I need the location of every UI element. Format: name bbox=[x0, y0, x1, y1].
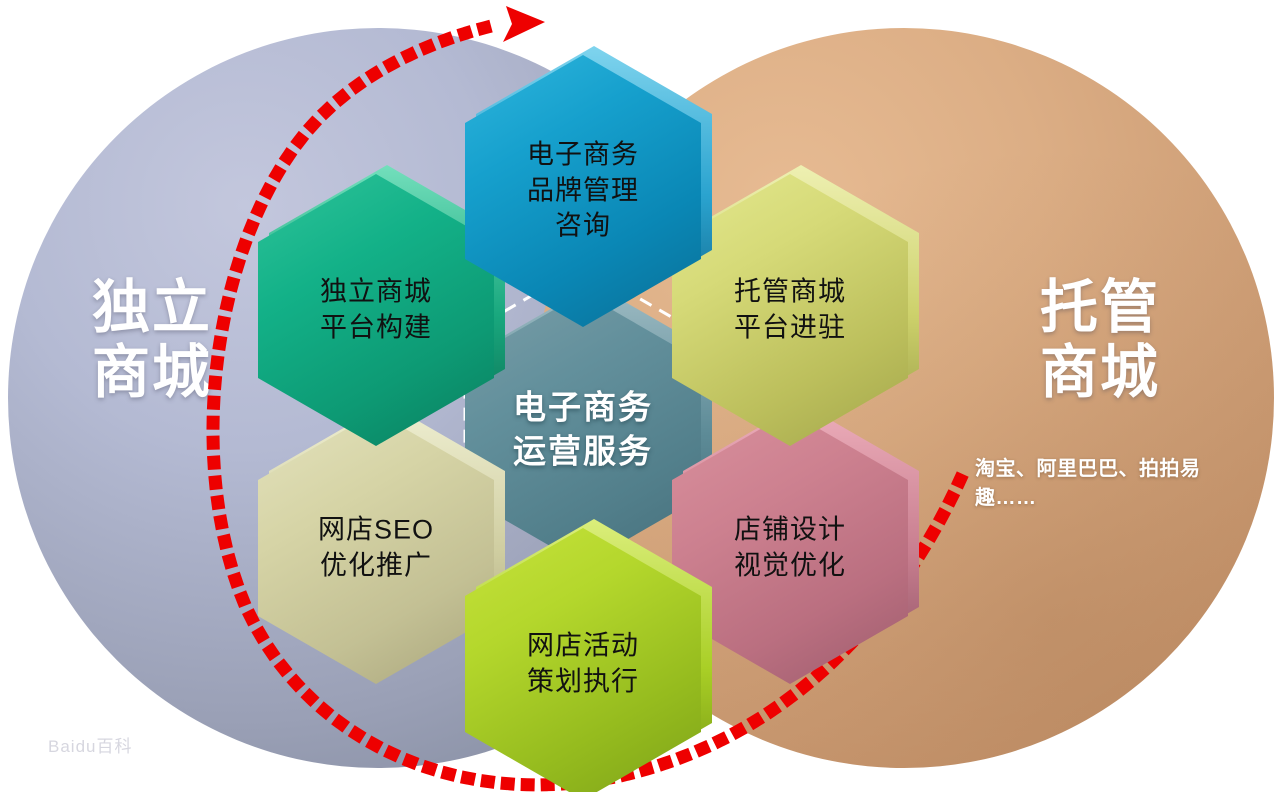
hexagon-label: 独立商城 平台构建 bbox=[258, 274, 494, 345]
hexagon-center-label: 电子商务 运营服务 bbox=[465, 385, 701, 472]
baidu-baike-watermark: Baidu百科 bbox=[48, 732, 132, 757]
diagram-canvas: 独立 商城 托管 商城 淘宝、阿里巴巴、拍拍易趣…… 独立商城 平台构建 网店S… bbox=[0, 0, 1286, 792]
arrow-head-icon bbox=[503, 6, 545, 42]
hexagon-label: 网店活动 策划执行 bbox=[465, 628, 701, 699]
left-circle-label: 独立 商城 bbox=[52, 276, 252, 406]
hexagon-ecommerce-brand-consulting[interactable]: 电子商务 品牌管理 咨询 bbox=[465, 55, 701, 327]
hexagon-label: 托管商城 平台进驻 bbox=[672, 274, 908, 345]
hexagon-label: 电子商务 品牌管理 咨询 bbox=[465, 138, 701, 245]
right-circle-label: 托管 商城 bbox=[1000, 276, 1200, 406]
hexagon-shop-seo-promotion[interactable]: 网店SEO 优化推广 bbox=[258, 412, 494, 684]
right-circle-sublabel: 淘宝、阿里巴巴、拍拍易趣…… bbox=[975, 455, 1257, 513]
hexagon-independent-mall-platform[interactable]: 独立商城 平台构建 bbox=[258, 174, 494, 446]
hexagon-label: 网店SEO 优化推广 bbox=[258, 512, 494, 583]
hexagon-label: 店铺设计 视觉优化 bbox=[672, 512, 908, 583]
hexagon-shop-campaign-execution[interactable]: 网店活动 策划执行 bbox=[465, 528, 701, 792]
